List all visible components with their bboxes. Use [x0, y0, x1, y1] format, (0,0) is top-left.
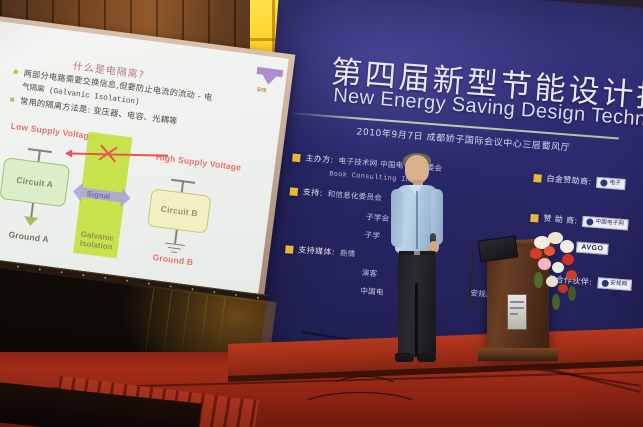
slide-bullet-icon — [10, 97, 14, 101]
floor-cable-2 — [300, 392, 420, 422]
bullet-square-icon — [530, 213, 539, 222]
presenter-person — [389, 155, 449, 371]
ground-a-label: Ground A — [0, 229, 61, 247]
bullet-square-icon — [290, 187, 299, 196]
slide-bullet-icon — [14, 70, 18, 74]
sponsor-row-label: 主办方: — [305, 152, 334, 165]
sponsor-row-media-2: 演客 — [361, 267, 377, 279]
sponsor-row-sponsor: 赞 助 商: 中国电子网 — [530, 212, 628, 230]
sponsor-row-names: 和信息化委员会 — [327, 188, 382, 203]
galvanic-isolation-label: Galvanic Isolation — [79, 229, 114, 252]
ground-lead-b — [174, 230, 177, 244]
podium-name-card — [507, 294, 527, 330]
ground-a-triangle-icon — [23, 216, 38, 227]
sponsor-row-society-2: 子学 — [364, 229, 380, 241]
circuit-b-box: Circuit B — [147, 188, 211, 233]
banner-date-venue: 2010年9月7日 成都娇子国际会议中心三层蜀风厅 — [356, 124, 571, 153]
logo-mark-icon — [601, 280, 609, 288]
supply-lead-a — [37, 149, 40, 161]
presenter-left-arm — [391, 189, 403, 247]
sponsor-row-label: 赞 助 商: — [543, 213, 578, 227]
sponsor-row-label: 支持媒体: — [298, 244, 335, 258]
sponsor-row-media: 支持媒体: 商情 — [285, 243, 356, 259]
bullet-square-icon — [285, 245, 294, 254]
logo-triangle-icon — [261, 75, 276, 86]
sponsor-logo-text: 安规网 — [610, 281, 627, 288]
sponsor-logo-content-partner: 安规网 — [597, 277, 632, 291]
sponsor-row-label: 支持: — [302, 186, 323, 198]
logo-mark-icon — [586, 218, 594, 226]
bullet-square-icon — [533, 174, 542, 183]
presenter-head — [405, 155, 429, 183]
sponsor-row-society-1: 子学会 — [366, 211, 390, 224]
low-supply-voltage-label: Low Supply Voltage — [10, 122, 75, 140]
podium-base — [478, 348, 558, 361]
sponsor-row-platinum: 白金赞助商: 电子 — [533, 172, 625, 190]
sponsor-logo-sponsor: 中国电子网 — [582, 216, 628, 230]
supply-lead-b — [181, 180, 184, 192]
sponsor-row-support: 支持: 和信息化委员会 — [289, 185, 382, 203]
slide-surface: 什么是电隔离? 两部分电路需要交换信息,但要防止电流的流动 - 电 气隔离 (G… — [0, 20, 289, 308]
sponsor-logo-text: 中国电子网 — [595, 220, 624, 228]
logo-mark-icon — [600, 179, 608, 187]
flower-arrangement — [528, 232, 588, 312]
sponsor-logo-text: 电子 — [609, 181, 621, 187]
presenter-shoe-left — [395, 353, 414, 362]
presenter-shoe-right — [417, 353, 436, 362]
conference-photo: 第四届新型节能设计技术 New Energy Saving Design Tec… — [0, 0, 643, 427]
sponsor-logo-platinum: 电子 — [596, 177, 625, 190]
sponsor-row-label: 白金赞助商: — [546, 173, 592, 187]
sponsor-row-names: 商情 — [340, 247, 356, 259]
sponsor-row-media-3: 中国电 — [360, 285, 384, 298]
presenter-shirt-placket — [416, 191, 418, 249]
slide-logo-text: 安规 — [256, 86, 267, 94]
presenter-leg-gap — [415, 283, 418, 357]
bullet-square-icon — [292, 153, 301, 162]
ground-b-label: Ground B — [143, 252, 204, 269]
circuit-a-box: Circuit A — [0, 157, 70, 207]
slide-corner-logo: 安规 — [254, 67, 284, 100]
